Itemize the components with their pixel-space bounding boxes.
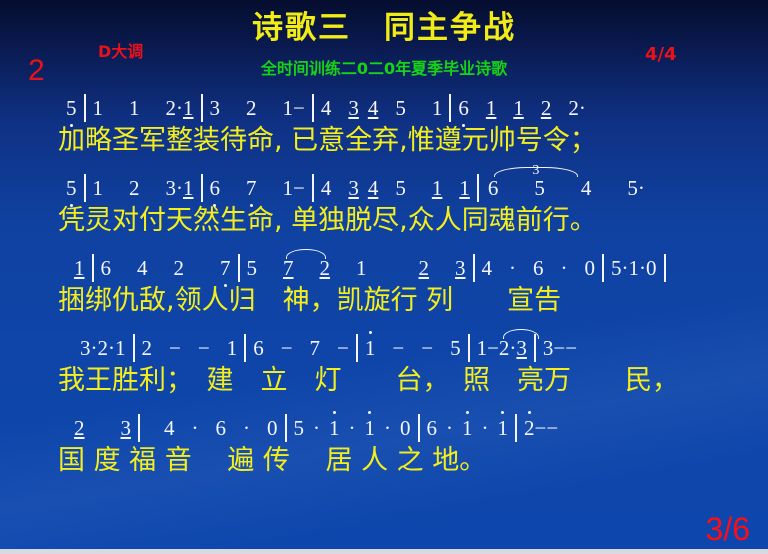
note: 5 [395, 92, 406, 124]
note: 4 [581, 172, 592, 204]
note: 4 [321, 172, 332, 204]
note: 5 [66, 92, 77, 124]
note: 1 [477, 332, 488, 364]
hold-dash: − [553, 332, 565, 364]
dot: · [243, 412, 250, 444]
note: 4 [137, 252, 148, 284]
barline [468, 334, 470, 362]
dot: · [313, 412, 320, 444]
lyrics-row-1: 加略圣军整装待命, 已意全弃,惟遵元帅号令； [0, 124, 768, 158]
note: 3 [348, 92, 359, 124]
hold-dash: − [169, 332, 181, 364]
dot: · [384, 412, 391, 444]
note: 1 [115, 332, 126, 364]
dot: · [349, 412, 356, 444]
note: 5 [534, 172, 545, 204]
hold-dash: − [487, 332, 499, 364]
note: 1 [513, 92, 524, 124]
note: 1 [498, 412, 509, 444]
dot: · [176, 92, 183, 124]
note: 5 [450, 332, 461, 364]
barline [477, 174, 479, 202]
note: 1 [74, 252, 85, 284]
rest: 0 [646, 252, 657, 284]
note: 2 [499, 332, 510, 364]
note: 3 [121, 412, 132, 444]
note: 5 [627, 172, 638, 204]
note: 3 [80, 332, 91, 364]
note: 3 [543, 332, 554, 364]
note: 6 [210, 172, 221, 204]
dot: · [91, 332, 98, 364]
note: 1 [486, 92, 497, 124]
hold-dash: − [565, 332, 577, 364]
note: 1 [183, 172, 194, 204]
rest: 0 [585, 252, 596, 284]
note: 1 [462, 412, 473, 444]
dot: · [192, 412, 199, 444]
notation-row-4: 3·2·12−−16−7−1−−51−2·33−− [0, 332, 768, 364]
note: 1 [93, 172, 104, 204]
note: 7 [246, 172, 257, 204]
notation-row-1: 5112·1321−4345161122· [0, 92, 768, 124]
note: 1 [459, 172, 470, 204]
key-signature: D大调 [98, 38, 143, 62]
note: 6 [533, 252, 544, 284]
note: 4 [321, 92, 332, 124]
note: 5 [66, 172, 77, 204]
dot: · [622, 252, 629, 284]
note: 2 [246, 92, 257, 124]
barline [133, 334, 135, 362]
note: 1 [629, 252, 640, 284]
dot: · [176, 172, 183, 204]
note: 3 [516, 332, 527, 364]
note: 4 [368, 92, 379, 124]
score-line-2: 5123·1671−43451163545· 凭灵对付天然生命, 单独脱尽,众人… [0, 172, 768, 252]
note: 6 [216, 412, 227, 444]
slide-canvas: 诗歌三 同主争战 全时间训练二0二0年夏季毕业诗歌 D大调 4/4 2 3/6 … [0, 0, 768, 554]
note: 2 [541, 92, 552, 124]
dot: · [509, 332, 516, 364]
note: 2 [74, 412, 85, 444]
barline [84, 94, 86, 122]
note: 4 [368, 172, 379, 204]
note: 4 [164, 412, 175, 444]
note: 1 [432, 92, 443, 124]
note: 1 [356, 252, 367, 284]
score-systems: 5112·1321−4345161122· 加略圣军整装待命, 已意全弃,惟遵元… [0, 92, 768, 492]
note: 3 [210, 92, 221, 124]
barline [449, 94, 451, 122]
note: 5 [395, 172, 406, 204]
page-number-indicator: 3/6 [706, 511, 750, 548]
hold-dash: − [535, 412, 547, 444]
barline [92, 254, 94, 282]
dot: · [509, 252, 516, 284]
note: 1 [283, 172, 294, 204]
score-line-1: 5112·1321−4345161122· 加略圣军整装待命, 已意全弃,惟遵元… [0, 92, 768, 172]
barline [201, 174, 203, 202]
note: 1 [129, 92, 140, 124]
hold-dash: − [293, 172, 305, 204]
barline [312, 94, 314, 122]
notation-row-2: 5123·1671−43451163545· [0, 172, 768, 204]
note: 1 [365, 412, 376, 444]
dot: · [108, 332, 115, 364]
note: 2 [129, 172, 140, 204]
note: 63 [488, 172, 499, 204]
hold-dash: − [421, 332, 433, 364]
note: 6 [458, 92, 469, 124]
lyrics-row-5: 国 度 福 音 遍 传 居 人 之 地。 [0, 444, 768, 478]
dot: · [638, 172, 645, 204]
barline [356, 334, 358, 362]
note: 2 [142, 332, 153, 364]
lyrics-row-2: 凭灵对付天然生命, 单独脱尽,众人同魂前行。 [0, 204, 768, 238]
note: 4 [482, 252, 493, 284]
barline [138, 414, 140, 442]
barline [285, 414, 287, 442]
lyrics-row-4: 我王胜利； 建 立 灯 台， 照 亮万 民， [0, 364, 768, 398]
note: 1 [227, 332, 238, 364]
score-line-5: 234·6·05·1·1·06·1·12−− 国 度 福 音 遍 传 居 人 之… [0, 412, 768, 492]
note: 6 [101, 252, 112, 284]
hold-dash: − [281, 332, 293, 364]
note: 7 [310, 332, 321, 364]
note: 3 [455, 252, 466, 284]
rest: 0 [267, 412, 278, 444]
dot: · [446, 412, 453, 444]
barline [418, 414, 420, 442]
hold-dash: − [546, 412, 558, 444]
barline [312, 174, 314, 202]
score-line-3: 164275721234·6·05·1·0 捆绑仇敌,领人归 神，凯旋行 列 宣… [0, 252, 768, 332]
note: 1 [329, 412, 340, 444]
barline [238, 254, 240, 282]
note: 2 [320, 252, 331, 284]
barline [515, 414, 517, 442]
note: 5 [294, 412, 305, 444]
dot: · [482, 412, 489, 444]
hold-dash: − [198, 332, 210, 364]
note: 3 [348, 172, 359, 204]
note: 2 [174, 252, 185, 284]
barline [602, 254, 604, 282]
note: 2 [166, 92, 177, 124]
hold-dash: − [337, 332, 349, 364]
note: 1 [365, 332, 376, 364]
score-line-4: 3·2·12−−16−7−1−−51−2·33−− 我王胜利； 建 立 灯 台，… [0, 332, 768, 412]
note: 5 [611, 252, 622, 284]
notation-row-5: 234·6·05·1·1·06·1·12−− [0, 412, 768, 444]
note: 2 [524, 412, 535, 444]
note: 7 [283, 252, 294, 284]
note: 7 [220, 252, 231, 284]
hold-dash: − [293, 92, 305, 124]
note: 6 [253, 332, 264, 364]
note: 1 [283, 92, 294, 124]
note: 1 [183, 92, 194, 124]
dot: · [639, 252, 646, 284]
note: 5 [247, 252, 258, 284]
note: 2 [98, 332, 109, 364]
time-signature: 4/4 [645, 44, 677, 65]
barline [84, 174, 86, 202]
barline [201, 94, 203, 122]
note: 3 [166, 172, 177, 204]
verse-number: 2 [28, 54, 45, 88]
hold-dash: − [392, 332, 404, 364]
notation-row-3: 164275721234·6·05·1·0 [0, 252, 768, 284]
note: 6 [427, 412, 438, 444]
note: 2 [419, 252, 430, 284]
barline [244, 334, 246, 362]
barline [664, 254, 666, 282]
rest: 0 [400, 412, 411, 444]
dot: · [561, 252, 568, 284]
barline [473, 254, 475, 282]
note: 1 [93, 92, 104, 124]
note: 1 [432, 172, 443, 204]
dot: · [579, 92, 586, 124]
note: 2 [568, 92, 579, 124]
lyrics-row-3: 捆绑仇敌,领人归 神，凯旋行 列 宣告 [0, 284, 768, 318]
